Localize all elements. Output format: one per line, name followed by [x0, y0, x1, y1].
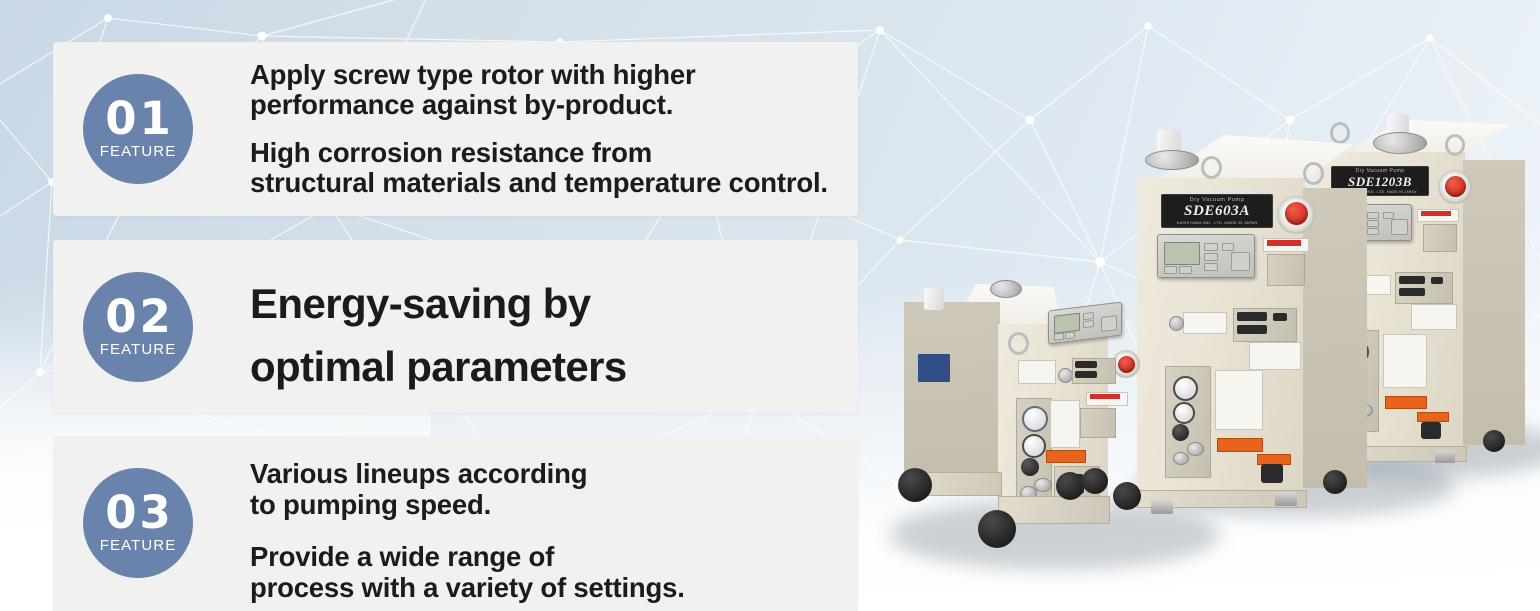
spec-label: [1249, 342, 1301, 370]
pump-flange: [990, 280, 1022, 298]
nameplate-model: SDE603A: [1184, 203, 1250, 220]
fitting: [1034, 478, 1052, 492]
caution-label: [1421, 211, 1451, 216]
pump-control-panel[interactable]: [1048, 301, 1122, 344]
control-panel-key[interactable]: [1179, 266, 1192, 274]
control-panel-key[interactable]: [1204, 253, 1218, 261]
leveling-foot: [1435, 450, 1455, 463]
caster-wheel: [1082, 468, 1108, 494]
caster-wheel: [1483, 430, 1505, 452]
power-connector: [1421, 422, 1441, 439]
feature-number: 01: [105, 98, 174, 139]
spec-label: [1018, 360, 1056, 384]
feature-line: Energy-saving by: [250, 272, 844, 335]
valve-knob[interactable]: [1172, 424, 1189, 441]
feature-block: Various lineups according to pumping spe…: [250, 458, 844, 520]
control-panel-lcd: [1054, 313, 1080, 334]
fitting: [1187, 442, 1204, 456]
pump-base-skirt: [998, 496, 1110, 524]
breaker-recess: [1080, 408, 1116, 438]
product-photo-vacuum-pumps: Dry Vacuum Pump SDE1203B KASHIYAMA IND.,…: [880, 0, 1540, 611]
caster-wheel: [1323, 470, 1347, 494]
pump-inlet-port: [924, 288, 944, 310]
caution-label: [1267, 240, 1301, 246]
feature-label: FEATURE: [100, 341, 177, 358]
procedure-label: [1050, 400, 1080, 448]
eyebolt-icon: [1303, 162, 1324, 185]
pressure-gauge: [1173, 402, 1195, 424]
feature-line: Provide a wide range of: [250, 541, 844, 572]
pump-side-panel: [1303, 188, 1367, 488]
breaker-recess: [1267, 254, 1305, 286]
spec-label: [1183, 312, 1227, 334]
feature-line: Apply screw type rotor with higher: [250, 60, 844, 90]
breaker-recess: [1423, 224, 1457, 252]
feature-line: High corrosion resistance from: [250, 138, 844, 168]
caution-label: [1090, 394, 1120, 399]
feature-number: 02: [105, 296, 174, 337]
feature-block: Energy-saving by optimal parameters: [250, 272, 844, 398]
caster-wheel: [978, 510, 1016, 548]
navigation-pad-icon[interactable]: [1231, 252, 1250, 271]
warning-label: [1046, 450, 1086, 463]
pump-nameplate: Dry Vacuum Pump SDE603A KASHIYAMA IND., …: [1161, 194, 1273, 228]
feature-line: structural materials and temperature con…: [250, 168, 844, 198]
control-panel-key[interactable]: [1065, 331, 1075, 339]
fitting: [1173, 452, 1189, 465]
pump-front-left: [890, 272, 1160, 562]
rj-connector: [1273, 313, 1287, 321]
emergency-stop-button[interactable]: [1285, 202, 1308, 225]
feature-line: performance against by-product.: [250, 90, 844, 120]
nameplate-maker: KASHIYAMA IND., LTD. MADE IN JAPAN: [1177, 220, 1258, 225]
hero-banner: 01 FEATURE Apply screw type rotor with h…: [0, 0, 1540, 611]
feature-text-02: Energy-saving by optimal parameters: [250, 272, 844, 398]
feature-line: Various lineups according: [250, 458, 844, 489]
control-panel-key[interactable]: [1222, 243, 1234, 251]
leveling-foot: [1275, 492, 1297, 506]
pump-flange: [1145, 150, 1199, 170]
control-panel-key[interactable]: [1204, 263, 1218, 271]
feature-block: Apply screw type rotor with higher perfo…: [250, 60, 844, 120]
d-sub-connector: [1237, 312, 1267, 321]
inspection-seal-icon: [1169, 316, 1184, 331]
pump-control-panel[interactable]: [1157, 234, 1255, 278]
emergency-stop-button[interactable]: [1118, 356, 1135, 373]
caster-wheel: [1056, 472, 1084, 500]
power-connector: [1261, 464, 1283, 483]
feature-panel-02: 02 FEATURE Energy-saving by optimal para…: [53, 240, 858, 413]
feature-line: to pumping speed.: [250, 489, 844, 520]
feature-label: FEATURE: [100, 537, 177, 554]
d-sub-connector: [1075, 371, 1097, 378]
feature-badge-02: 02 FEATURE: [83, 272, 193, 382]
feature-label: FEATURE: [100, 143, 177, 160]
navigation-pad-icon[interactable]: [1101, 315, 1117, 332]
d-sub-connector: [1399, 276, 1425, 284]
feature-badge-01: 01 FEATURE: [83, 74, 193, 184]
control-panel-lcd: [1164, 242, 1200, 265]
warning-label: [1217, 438, 1263, 452]
feature-block: High corrosion resistance from structura…: [250, 138, 844, 198]
feature-text-03: Various lineups according to pumping spe…: [250, 458, 844, 603]
pressure-gauge: [1022, 406, 1048, 432]
feature-badge-03: 03 FEATURE: [83, 468, 193, 578]
feature-number: 03: [105, 492, 174, 533]
power-label: [1417, 412, 1449, 422]
inspection-seal-icon: [1058, 368, 1073, 383]
pressure-gauge: [1022, 434, 1046, 458]
d-sub-connector: [1237, 325, 1267, 334]
pump-side-panel: [904, 302, 1000, 482]
feature-text-01: Apply screw type rotor with higher perfo…: [250, 60, 844, 198]
feature-panel-03: 03 FEATURE Various lineups according to …: [53, 436, 858, 611]
eyebolt-icon: [1008, 332, 1029, 355]
valve-knob[interactable]: [1021, 458, 1039, 476]
feature-block: Provide a wide range of process with a v…: [250, 541, 844, 603]
caster-wheel: [898, 468, 932, 502]
eyebolt-icon: [1201, 156, 1222, 179]
eyebolt-icon: [1445, 134, 1465, 156]
control-panel-key[interactable]: [1054, 333, 1064, 341]
control-panel-key[interactable]: [1083, 320, 1094, 328]
feature-line: optimal parameters: [250, 335, 844, 398]
rj-connector: [1431, 277, 1443, 284]
emergency-stop-button[interactable]: [1445, 176, 1466, 197]
feature-panel-01: 01 FEATURE Apply screw type rotor with h…: [53, 42, 858, 216]
d-sub-connector: [1075, 361, 1097, 368]
procedure-label: [1215, 370, 1263, 430]
pump-side-panel: [1463, 160, 1525, 445]
control-panel-key[interactable]: [1204, 243, 1218, 251]
spec-label: [1411, 304, 1457, 330]
feature-line: process with a variety of settings.: [250, 572, 844, 603]
d-sub-connector: [1399, 288, 1425, 296]
product-sticker: [918, 354, 950, 382]
pressure-gauge: [1173, 376, 1198, 401]
control-panel-key[interactable]: [1164, 266, 1177, 274]
